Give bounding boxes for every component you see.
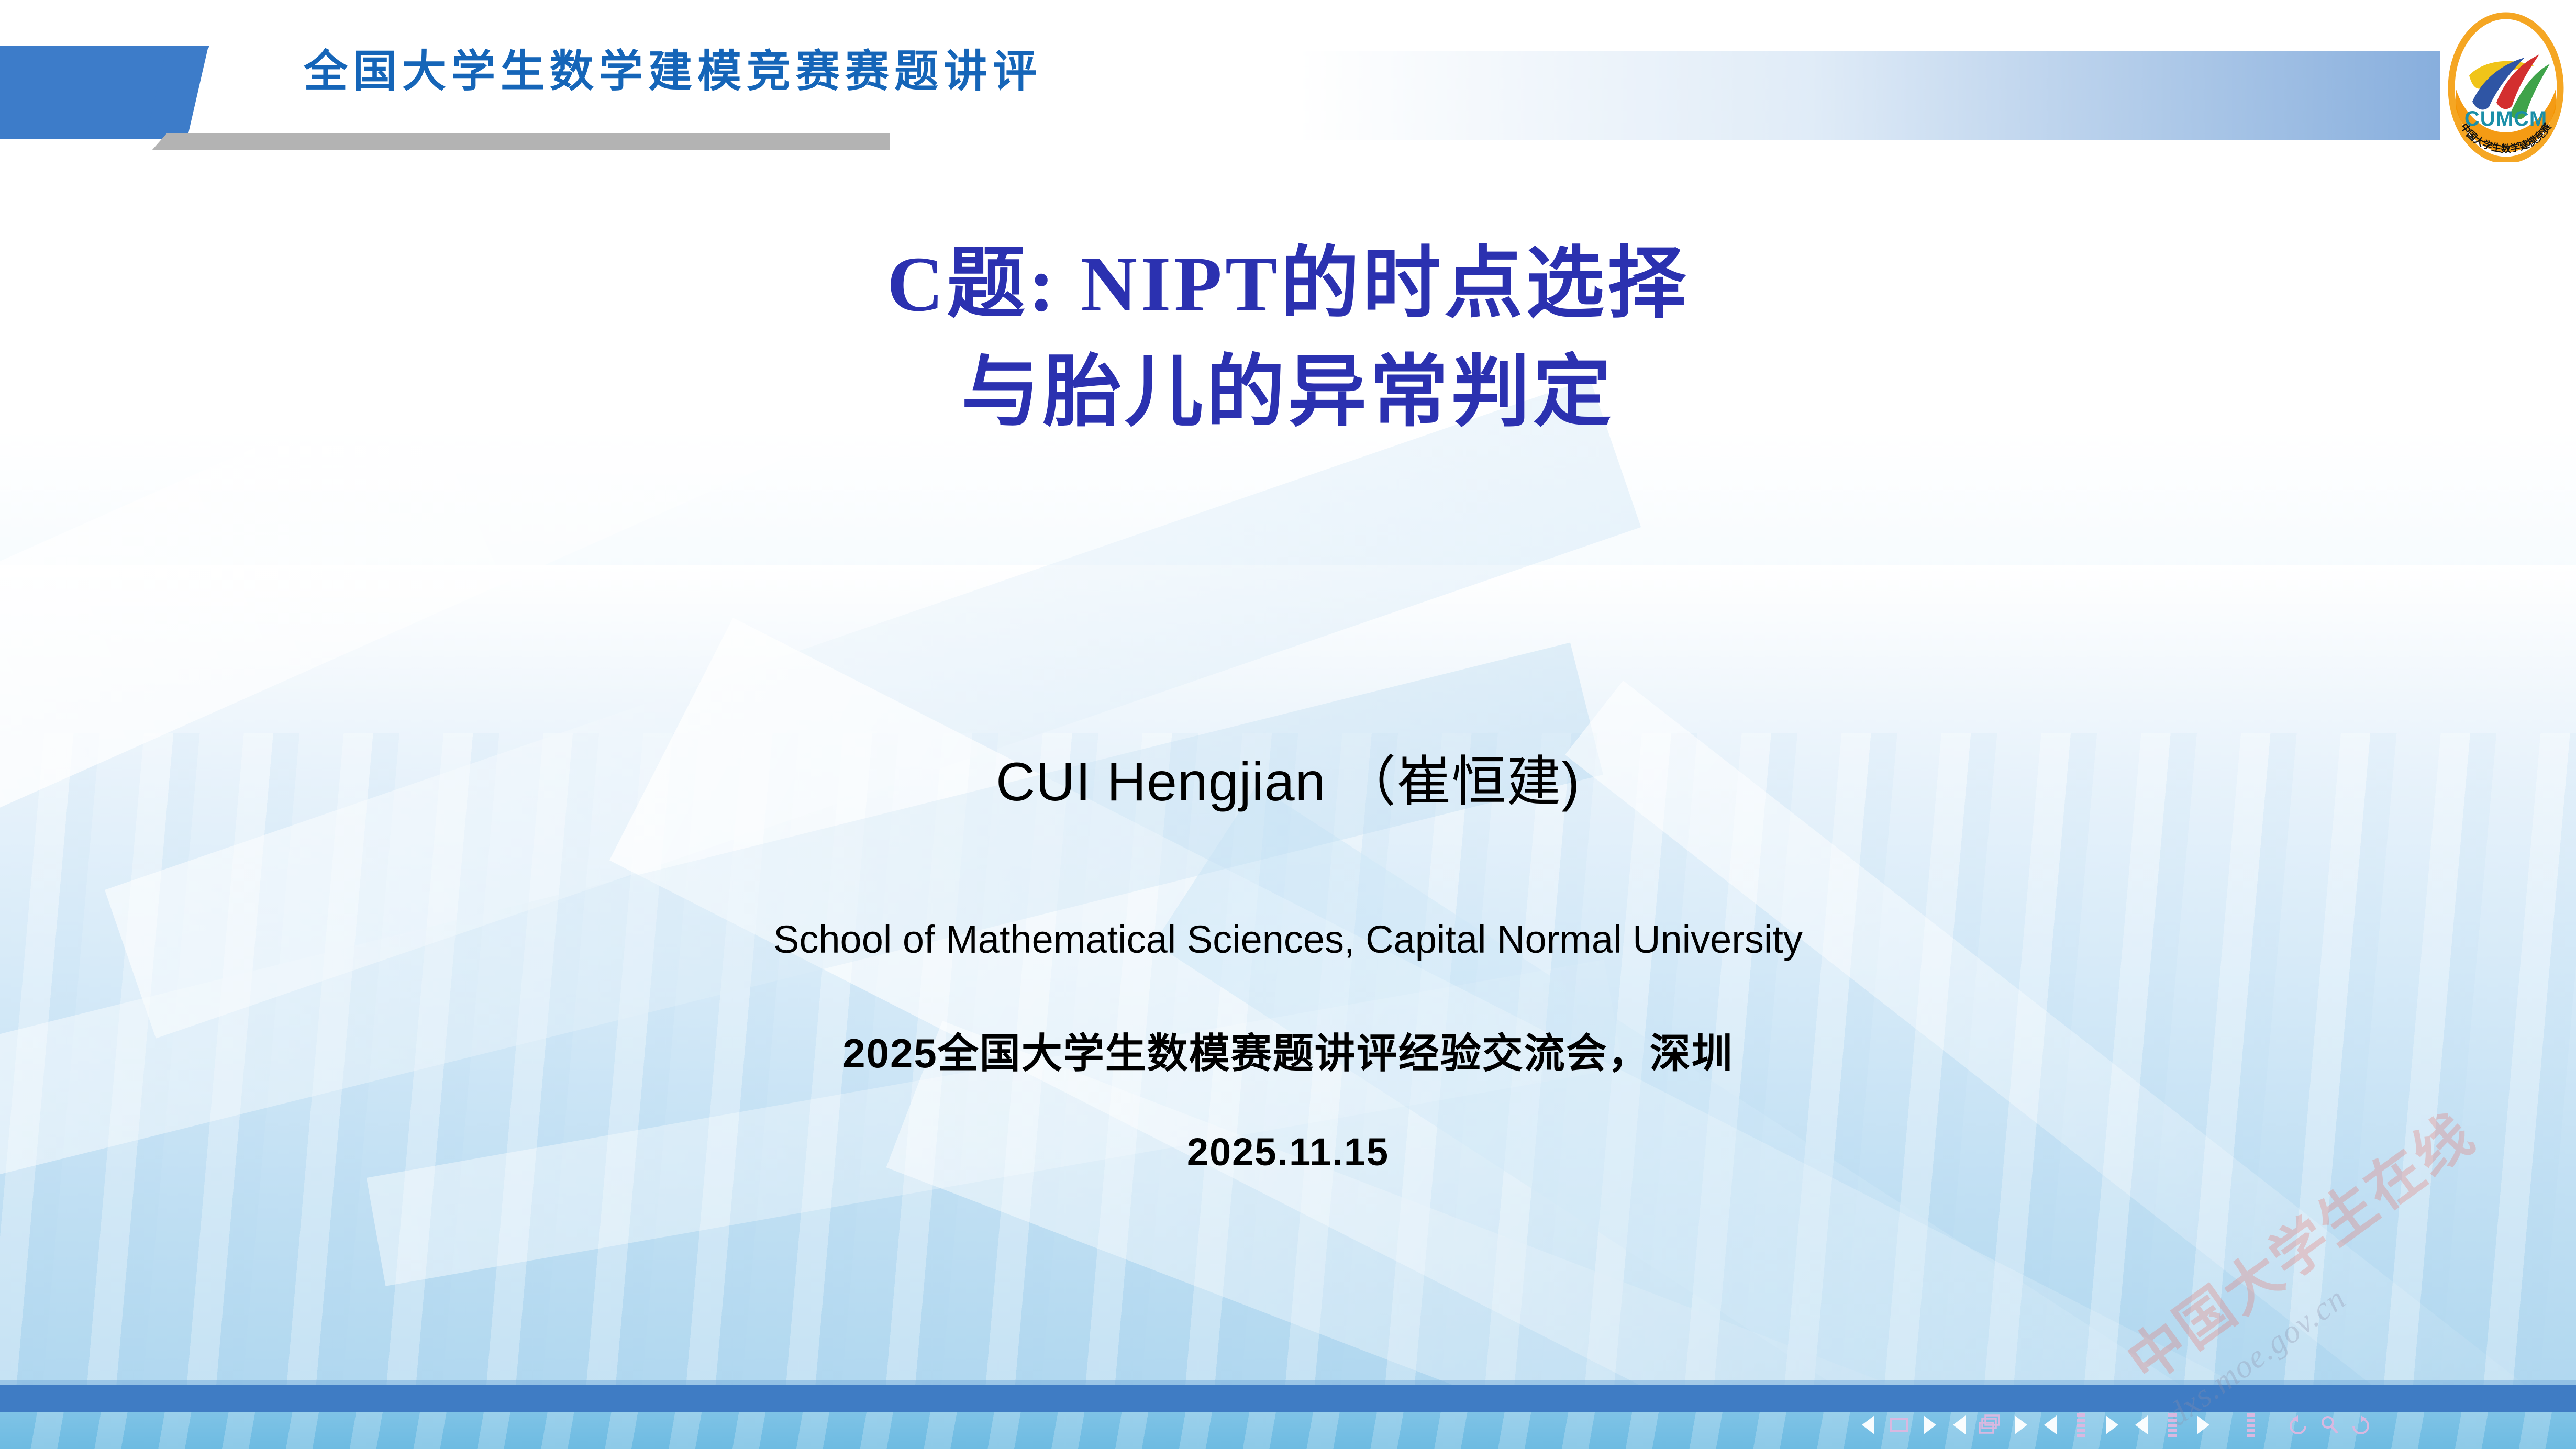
rotate-left-icon[interactable] [2284,1406,2314,1444]
prev-outline-arrow[interactable] [2036,1406,2066,1444]
watermark-url: dxs.moe.gov.cn [2160,1170,2504,1434]
next-slide-arrow[interactable] [1914,1406,1945,1444]
notes-view-icon[interactable] [2157,1406,2188,1444]
svg-text:CUMCM: CUMCM [2464,107,2547,130]
next-section-arrow[interactable] [2005,1406,2036,1444]
cumcm-logo: CUMCM 中国大学生数学建模竞赛 [2446,9,2566,162]
next-notes-arrow[interactable] [2188,1406,2218,1444]
conference-line: 2025全国大学生数模赛题讲评经验交流会，深圳 [0,1021,2576,1079]
header-gradient-strip [1298,51,2440,140]
slide-title-line-2: 与胎儿的异常判定 [0,339,2576,447]
stacked-slides-icon[interactable] [1975,1406,2005,1444]
slide-title: C题: NIPT的时点选择 与胎儿的异常判定 [0,230,2576,447]
prev-slide-arrow[interactable] [1853,1406,1884,1444]
zoom-icon[interactable] [2314,1406,2345,1444]
next-outline-arrow[interactable] [2096,1406,2127,1444]
presentation-date: 2025.11.15 [0,1130,2576,1174]
prev-section-arrow[interactable] [1945,1406,1975,1444]
author-name: CUI Hengjian （崔恒建) [0,737,2576,816]
nav-separator [2266,1425,2284,1425]
outline-view-icon[interactable] [2066,1406,2096,1444]
slide-navigation-toolbar[interactable] [1853,1401,2555,1449]
nav-separator [2218,1425,2236,1425]
affiliation: School of Mathematical Sciences, Capital… [0,917,2576,962]
current-slide-frame[interactable] [1884,1406,1914,1444]
rotate-right-icon[interactable] [2345,1406,2375,1444]
slide-title-line-1: C题: NIPT的时点选择 [0,230,2576,339]
prev-notes-arrow[interactable] [2127,1406,2157,1444]
slide-background [0,0,2576,1449]
thumbnail-view-icon[interactable] [2236,1406,2266,1444]
banner-title: 全国大学生数学建模竞赛赛题讲评 [304,48,1042,96]
header-gray-bar [152,133,890,150]
presentation-slide: 全国大学生数学建模竞赛赛题讲评 CUMCM 中国大学生数学建模竞赛 [0,0,2576,1449]
